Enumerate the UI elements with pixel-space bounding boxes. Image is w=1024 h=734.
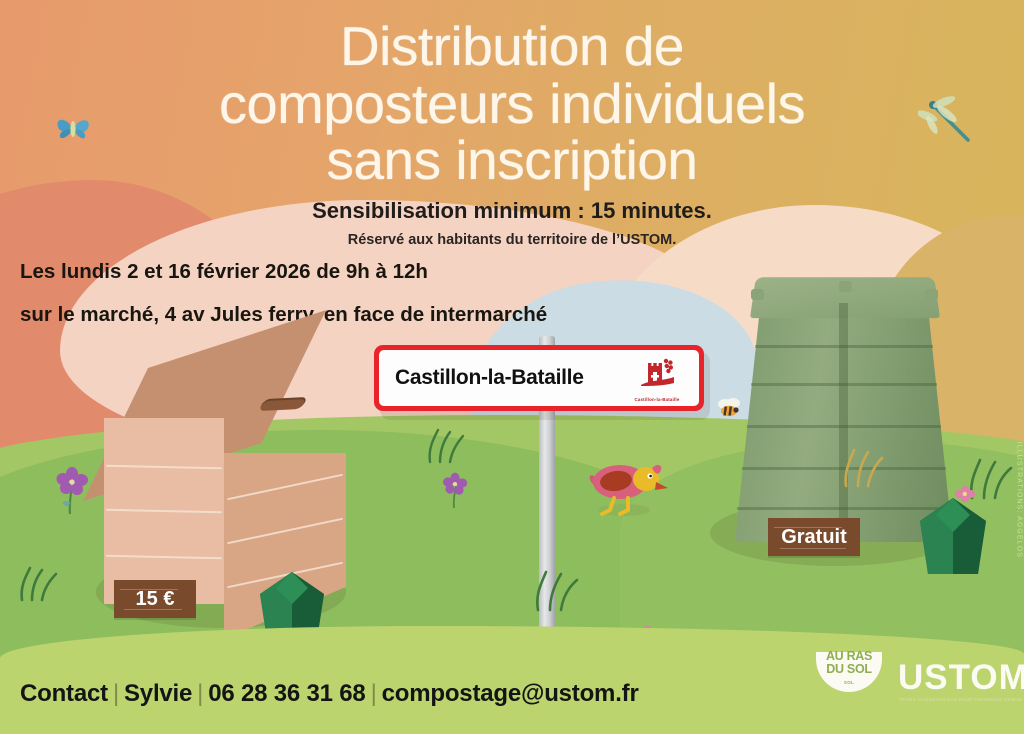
headline-line-1: Distribution de: [0, 18, 1024, 75]
green-composter-knob: [751, 289, 764, 300]
crest-caption: Castillon-la-Bataille: [625, 397, 689, 402]
contact-phone: 06 28 36 31 68: [208, 680, 365, 707]
green-composter-center-seam: [839, 303, 848, 541]
green-composter-knob: [839, 281, 852, 292]
contact-line: Contact|Sylvie|06 28 36 31 68|compostage…: [20, 680, 639, 708]
green-composter-slat: [751, 383, 937, 386]
logo-au-ras-du-sol: AU RAS DU SOL SOL: [816, 644, 882, 698]
green-composter-slat: [747, 425, 941, 428]
road-sign: Castillon-la-Bataille Castillon-la-: [374, 345, 704, 411]
contact-separator-3: |: [366, 680, 382, 707]
contact-person: Sylvie: [124, 680, 192, 707]
chicken-icon: [584, 452, 670, 522]
contact-label: Contact: [20, 680, 108, 707]
road-sign-face: Castillon-la-Bataille Castillon-la-: [379, 350, 699, 406]
ustom-tagline: TRIONS ALLÉGEONS NOS POUR PRÉSERVER DEMA…: [898, 697, 1010, 702]
au-ras-du-sol-text: AU RAS DU SOL SOL: [816, 650, 882, 689]
poster-canvas: Distribution de composteurs individuels …: [0, 0, 1024, 734]
town-name-label: Castillon-la-Bataille: [395, 366, 584, 390]
grass-tuft: [422, 424, 470, 464]
logo-ustom: USTOM TRIONS ALLÉGEONS NOS POUR PRÉSERVE…: [898, 661, 1010, 702]
contact-email[interactable]: compostage@ustom.fr: [382, 680, 639, 707]
contact-separator-1: |: [108, 680, 124, 707]
subtitle: Sensibilisation minimum : 15 minutes.: [0, 198, 1024, 224]
contact-separator-2: |: [192, 680, 208, 707]
ards-sub-text: SOL: [816, 676, 882, 689]
flower-cluster-small: [950, 480, 986, 508]
illustration-credit: ILLUSTRATIONS: AGGELOS: [1015, 442, 1022, 558]
schedule-block: Les lundis 2 et 16 février 2026 de 9h à …: [20, 262, 547, 325]
grass-tuft: [836, 444, 888, 488]
butterfly-icon: [52, 108, 96, 150]
dragonfly-icon: [918, 92, 980, 150]
green-composter-slat: [755, 345, 933, 348]
price-plaque-wood: 15 €: [114, 580, 196, 618]
wood-composter-price: 15 €: [136, 588, 175, 611]
town-crest-logo: Castillon-la-Bataille: [625, 355, 689, 402]
grass-tuft: [528, 564, 584, 612]
schedule-location: sur le marché, 4 av Jules ferry, en face…: [20, 305, 547, 326]
ards-line-2: DU SOL: [816, 663, 882, 676]
green-composter-knob: [925, 289, 938, 300]
castle-tower-icon: [637, 355, 677, 391]
flower-purple: [52, 464, 92, 518]
headline-line-2: composteurs individuels: [0, 75, 1024, 133]
reserved-note: Réservé aux habitants du territoire de l…: [0, 232, 1024, 248]
headline-line-3: sans inscription: [0, 132, 1024, 189]
page-title: Distribution de composteurs individuels …: [0, 18, 1024, 189]
grass-tuft: [14, 560, 66, 602]
green-composter-price: Gratuit: [781, 526, 847, 549]
flower-purple: [440, 470, 470, 510]
ustom-wordmark: USTOM: [898, 661, 1010, 695]
price-plaque-green: Gratuit: [768, 518, 860, 556]
green-cone-bin-right: [916, 496, 990, 576]
schedule-dates: Les lundis 2 et 16 février 2026 de 9h à …: [20, 262, 547, 283]
